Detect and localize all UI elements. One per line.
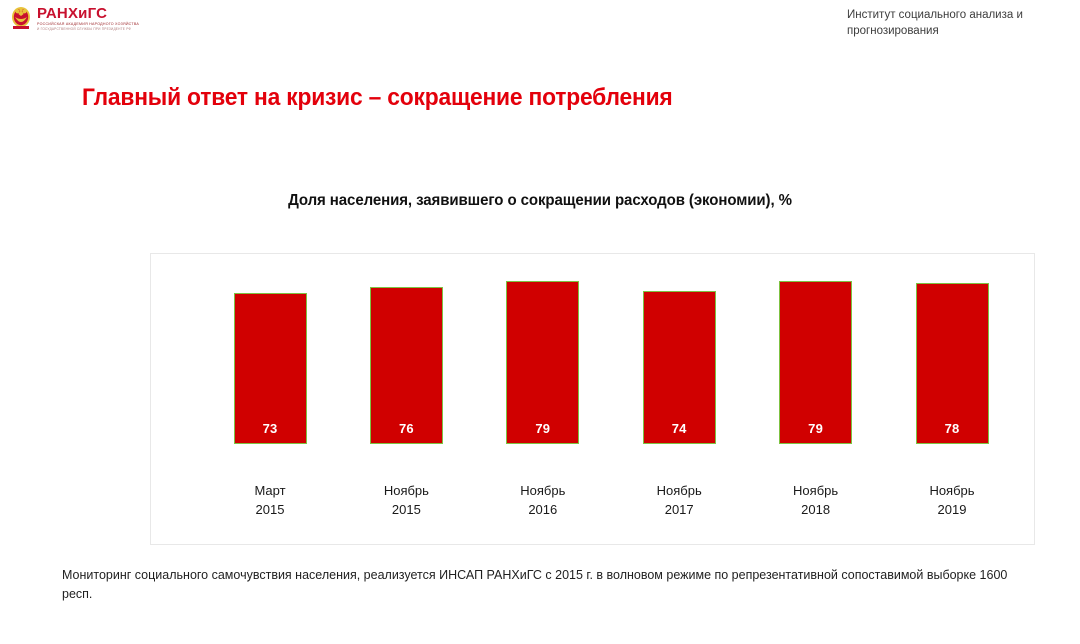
category-month: Ноябрь: [756, 482, 876, 501]
x-axis-category-label: Ноябрь2017: [619, 482, 739, 520]
category-year: 2017: [619, 501, 739, 520]
chart-title: Доля населения, заявившего о сокращении …: [16, 192, 1064, 210]
x-axis-category-label: Март2015: [210, 482, 330, 520]
category-month: Ноябрь: [346, 482, 466, 501]
bar-group: 79: [779, 281, 852, 444]
slide-title: Главный ответ на кризис – сокращение пот…: [82, 84, 673, 112]
bar-value-label: 79: [808, 421, 823, 436]
x-axis-category-label: Ноябрь2019: [892, 482, 1012, 520]
source-footnote: Мониторинг социального самочувствия насе…: [62, 566, 1017, 605]
category-month: Ноябрь: [483, 482, 603, 501]
bar-value-label: 76: [399, 421, 414, 436]
bar-group: 74: [643, 291, 716, 444]
category-year: 2015: [346, 501, 466, 520]
chart-frame: 73Март201576Ноябрь201579Ноябрь201674Нояб…: [150, 253, 1035, 545]
logo-subtitle-second-line: И ГОСУДАРСТВЕННОЙ СЛУЖБЫ ПРИ ПРЕЗИДЕНТЕ …: [37, 28, 139, 31]
bar-value-label: 78: [945, 421, 960, 436]
bar-group: 76: [370, 287, 443, 444]
category-year: 2015: [210, 501, 330, 520]
bar-group: 79: [506, 281, 579, 444]
category-year: 2016: [483, 501, 603, 520]
category-month: Ноябрь: [892, 482, 1012, 501]
chart-bar[interactable]: 76: [370, 287, 443, 444]
category-year: 2018: [756, 501, 876, 520]
bar-value-label: 74: [672, 421, 687, 436]
ranepa-logo: РАНХиГС РОССИЙСКАЯ АКАДЕМИЯ НАРОДНОГО ХО…: [10, 6, 139, 31]
chart-bar[interactable]: 78: [916, 283, 989, 444]
logo-title: РАНХиГС: [37, 6, 139, 21]
bar-value-label: 79: [535, 421, 550, 436]
institute-name: Институт социального анализа и прогнозир…: [847, 8, 1062, 39]
bar-group: 73: [234, 293, 307, 444]
x-axis-category-label: Ноябрь2015: [346, 482, 466, 520]
category-month: Ноябрь: [619, 482, 739, 501]
logo-text: РАНХиГС РОССИЙСКАЯ АКАДЕМИЯ НАРОДНОГО ХО…: [37, 6, 139, 31]
x-axis-category-label: Ноябрь2018: [756, 482, 876, 520]
category-year: 2019: [892, 501, 1012, 520]
chart-bar[interactable]: 73: [234, 293, 307, 444]
chart-bar[interactable]: 79: [779, 281, 852, 444]
chart-bar[interactable]: 79: [506, 281, 579, 444]
category-month: Март: [210, 482, 330, 501]
chart-plot-area: 73Март201576Ноябрь201579Ноябрь201674Нояб…: [151, 254, 1036, 546]
coat-of-arms-emblem-icon: [10, 6, 32, 30]
slide-header: РАНХиГС РОССИЙСКАЯ АКАДЕМИЯ НАРОДНОГО ХО…: [0, 0, 1080, 50]
chart-bar[interactable]: 74: [643, 291, 716, 444]
x-axis-category-label: Ноябрь2016: [483, 482, 603, 520]
bar-group: 78: [916, 283, 989, 444]
bar-value-label: 73: [263, 421, 278, 436]
